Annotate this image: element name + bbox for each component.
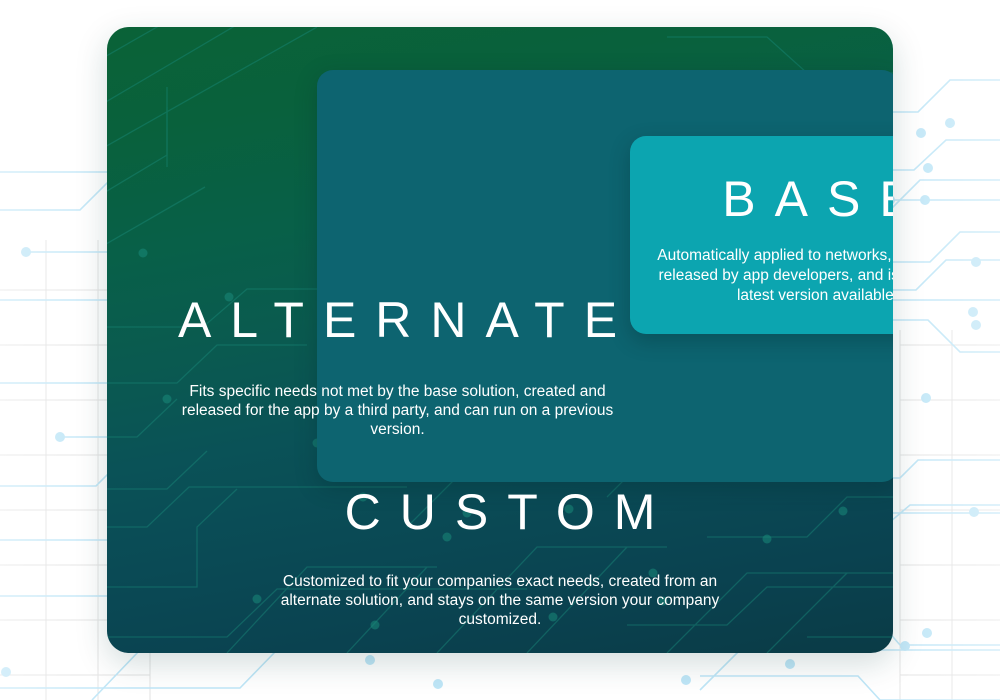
custom-tier-title: CUSTOM xyxy=(107,487,893,537)
base-tier-description: Automatically applied to networks, creat… xyxy=(654,246,893,306)
custom-tier-description: Customized to fit your companies exact n… xyxy=(267,572,733,629)
alternate-tier-title: ALTERNATE xyxy=(107,295,688,345)
alternate-tier-description: Fits specific needs not met by the base … xyxy=(167,382,628,439)
custom-tier-card[interactable]: BASE Automatically applied to networks, … xyxy=(107,27,893,653)
base-tier-title: BASE xyxy=(630,174,893,224)
solution-tiers-graphic: BASE Automatically applied to networks, … xyxy=(0,0,1000,700)
